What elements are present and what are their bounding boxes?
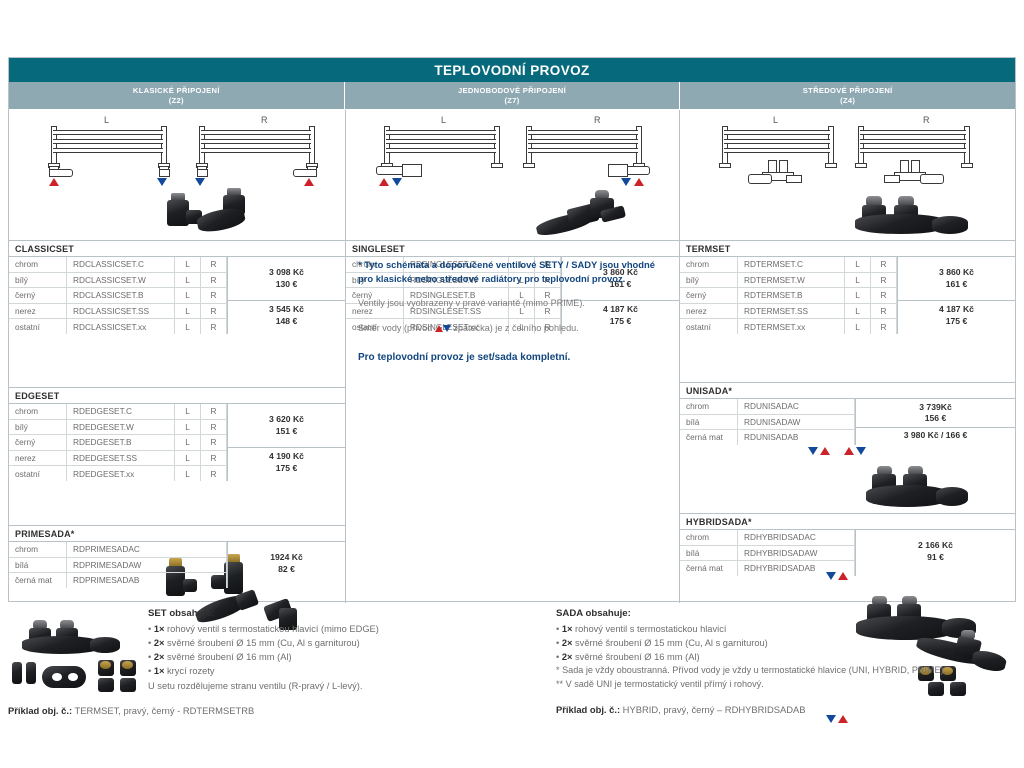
cell-code: RDTERMSET.SS [738, 304, 845, 319]
cell-code: RDCLASSICSET.SS [67, 304, 175, 319]
flow-arrow-supply [820, 447, 830, 455]
flow-arrow-return [856, 447, 866, 455]
note-line-4: Pro teplovodní provoz je set/sada komple… [358, 352, 658, 363]
price-czk: 4 190 Kč [269, 451, 304, 463]
table-row: bílá RDPRIMESADAW [9, 558, 227, 574]
item-text: svěrné šroubení Ø 16 mm (Al) [164, 652, 291, 662]
item-qty: 2× [154, 638, 165, 648]
cell-color: chrom [9, 404, 67, 419]
cell-code: RDCLASSICSET.B [67, 288, 175, 303]
footer-set-block: SET obsahuje: • 1× rohový ventil s termo… [148, 608, 548, 716]
footer-set-example: Příklad obj. č.: TERMSET, pravý, černý -… [8, 705, 548, 716]
catalog-page: TEPLOVODNÍ PROVOZ KLASICKÉ PŘIPOJENÍ (Z2… [0, 0, 1024, 768]
table-row: chrom RDHYBRIDSADAC [680, 530, 855, 546]
cell-color: bílý [680, 273, 738, 288]
cell-code: RDTERMSET.B [738, 288, 845, 303]
example-label: Příklad obj. č.: [556, 704, 620, 715]
item-qty: 2× [562, 638, 573, 648]
price-block: 1924 Kč 82 € [228, 542, 345, 586]
cell-code: RDHYBRIDSADAB [738, 561, 855, 576]
cell-code: RDCLASSICSET.W [67, 273, 175, 288]
table-row: černý RDTERMSET.B L R [680, 288, 897, 304]
price-eur: 175 € [946, 316, 968, 328]
table-row: černá mat RDHYBRIDSADAB [680, 561, 855, 576]
footer-sada-note-2: ** V sadě UNI je termostatický ventil př… [556, 678, 1024, 692]
price-eur: 161 € [946, 279, 968, 291]
price-block: 3 098 Kč 130 € [228, 257, 345, 301]
table-row: nerez RDCLASSICSET.SS L R [9, 304, 227, 320]
note-line-3: Směr vody (přívod zpátečka) je z čelního… [358, 322, 658, 335]
table-row: bílý RDCLASSICSET.W L R [9, 273, 227, 289]
price-column: 3 860 Kč 161 € 4 187 Kč 175 € [897, 257, 1015, 334]
price-block: 3 620 Kč 151 € [228, 404, 345, 448]
table-row: chrom RDTERMSET.C L R [680, 257, 897, 273]
cell-right: R [201, 257, 227, 272]
cell-right: R [871, 257, 897, 272]
price-column: 3 739Kč 156 € 3 980 Kč / 166 € [855, 399, 1015, 445]
schematic-label-left: L [441, 115, 446, 125]
flow-arrow-return [392, 178, 402, 186]
product-table-termset: TERMSET chrom RDTERMSET.C L R bílý [680, 240, 1015, 334]
cell-color: chrom [680, 530, 738, 545]
cell-right: R [201, 319, 227, 334]
cell-code: RDEDGESET.W [67, 420, 175, 435]
product-name: SINGLESET [346, 241, 679, 257]
flow-arrow-supply [304, 178, 314, 186]
item-qty: 1× [154, 624, 165, 634]
price-block: 3 545 Kč 148 € [228, 301, 345, 330]
cell-color: ostatní [9, 319, 67, 334]
note-line-3-prefix: Směr vody (přívod [358, 323, 435, 333]
product-name: EDGESET [9, 388, 345, 404]
cell-right: R [871, 288, 897, 303]
cell-code: RDTERMSET.C [738, 257, 845, 272]
cell-code: RDPRIMESADAC [67, 542, 227, 557]
cell-left: L [175, 257, 201, 272]
cell-right: R [201, 404, 227, 419]
table-row: ostatní RDEDGESET.xx L R [9, 466, 227, 481]
product-table-hybridsada: HYBRIDSADA* chrom RDHYBRIDSADAC bílá RDH… [680, 513, 1015, 576]
cell-color: černý [9, 288, 67, 303]
cell-color: nerez [680, 304, 738, 319]
cell-color: bílý [9, 420, 67, 435]
price-block: 4 190 Kč 175 € [228, 448, 345, 477]
flow-arrow-return [195, 178, 205, 186]
cell-color: černá mat [680, 561, 738, 576]
product-name: UNISADA* [680, 383, 1015, 399]
table-row: černá mat RDUNISADAB [680, 430, 855, 445]
schematic-label-right: R [261, 115, 268, 125]
cell-color: bílá [680, 415, 738, 430]
schematic-label-right: R [594, 115, 601, 125]
footer-sada-item: • 2× svěrné šroubení Ø 16 mm (Al) [556, 650, 1024, 664]
cell-code: RDHYBRIDSADAC [738, 530, 855, 545]
cell-color: ostatní [680, 319, 738, 334]
product-name: PRIMESADA* [9, 526, 345, 542]
cell-color: černá mat [9, 573, 67, 588]
cell-color: nerez [9, 304, 67, 319]
price-block-single: 3 980 Kč / 166 € [856, 428, 1015, 443]
item-text: svěrné šroubení Ø 16 mm (Al) [572, 652, 699, 662]
price-column: 1924 Kč 82 € [227, 542, 345, 588]
table-row: bílá RDUNISADAW [680, 415, 855, 431]
cell-color: chrom [9, 542, 67, 557]
price-combined: 3 980 Kč / 166 € [904, 430, 968, 442]
table-row: černá mat RDPRIMESADAB [9, 573, 227, 588]
item-text: krycí rozety [164, 666, 214, 676]
table-row: černý RDCLASSICSET.B L R [9, 288, 227, 304]
footer-sada-note-1: * Sada je vždy oboustranná. Přívod vody … [556, 664, 1024, 678]
price-eur: 82 € [278, 564, 295, 576]
schematic-classicset: L R [9, 110, 345, 240]
cell-left: L [175, 273, 201, 288]
cell-left: L [175, 319, 201, 334]
cell-left: L [845, 304, 871, 319]
cell-left: L [175, 435, 201, 450]
footer-sada-title: SADA obsahuje: [556, 608, 1024, 619]
product-table-classicset: CLASSICSET chrom RDCLASSICSET.C L R bílý [9, 240, 345, 334]
column-headers: KLASICKÉ PŘIPOJENÍ (Z2) JEDNOBODOVÉ PŘIP… [9, 82, 1015, 110]
footer: SET obsahuje: • 1× rohový ventil s termo… [8, 608, 1016, 728]
cell-left: L [845, 319, 871, 334]
footer-sada-example: Příklad obj. č.: HYBRID, pravý, černý – … [556, 704, 1024, 715]
flow-arrow-return-icon [443, 325, 451, 332]
cell-right: R [201, 304, 227, 319]
product-name: HYBRIDSADA* [680, 514, 1015, 530]
cell-left: L [175, 288, 201, 303]
flow-arrow-return [157, 178, 167, 186]
price-eur: 91 € [927, 552, 944, 564]
cell-code: RDEDGESET.xx [67, 466, 175, 481]
cell-color: bílý [9, 273, 67, 288]
cell-code: RDHYBRIDSADAW [738, 546, 855, 561]
column-header-code: (Z2) [169, 96, 184, 105]
footer-sada-block: SADA obsahuje: • 1× rohový ventil s term… [556, 608, 1024, 715]
flow-arrow-return [808, 447, 818, 455]
table-row: chrom RDCLASSICSET.C L R [9, 257, 227, 273]
footer-set-item: • 1× rohový ventil s termostatickou hlav… [148, 622, 548, 636]
product-table-unisada: UNISADA* chrom RDUNISADAC bílá RDUNISADA… [680, 382, 1015, 445]
cell-color: chrom [9, 257, 67, 272]
price-column: 2 166 Kč 91 € [855, 530, 1015, 576]
cell-right: R [201, 466, 227, 481]
cell-code: RDUNISADAC [738, 399, 855, 414]
page-title: TEPLOVODNÍ PROVOZ [9, 58, 1015, 82]
cell-code: RDEDGESET.B [67, 435, 175, 450]
column-header-klasicke: KLASICKÉ PŘIPOJENÍ (Z2) [9, 82, 345, 109]
cell-right: R [871, 273, 897, 288]
table-row: bílý RDEDGESET.W L R [9, 420, 227, 436]
column-header-jednobodove: JEDNOBODOVÉ PŘIPOJENÍ (Z7) [345, 82, 681, 109]
cell-color: bílá [680, 546, 738, 561]
cell-color: ostatní [9, 466, 67, 481]
item-qty: 2× [562, 652, 573, 662]
item-qty: 1× [562, 624, 573, 634]
column-klasicke-pripojeni: L R [9, 110, 346, 603]
table-row: bílý RDTERMSET.W L R [680, 273, 897, 289]
flow-arrow-supply [49, 178, 59, 186]
cell-left: L [175, 451, 201, 466]
product-name: CLASSICSET [9, 241, 345, 257]
schematic-label-left: L [104, 115, 109, 125]
table-row: chrom RDPRIMESADAC [9, 542, 227, 558]
price-eur: 175 € [276, 463, 298, 475]
price-czk: 1924 Kč [270, 552, 303, 564]
cell-right: R [871, 319, 897, 334]
example-value: HYBRID, pravý, černý – RDHYBRIDSADAB [620, 704, 805, 715]
table-row: černý RDEDGESET.B L R [9, 435, 227, 451]
schematic-label-right: R [923, 115, 930, 125]
cell-right: R [201, 288, 227, 303]
cell-left: L [175, 404, 201, 419]
table-row: chrom RDEDGESET.C L R [9, 404, 227, 420]
product-name: TERMSET [680, 241, 1015, 257]
cell-right: R [201, 435, 227, 450]
schematic-singleset: L R [346, 110, 679, 240]
cell-left: L [845, 288, 871, 303]
item-text: svěrné šroubení Ø 15 mm (Cu, Al s garnit… [572, 638, 767, 648]
table-row: nerez RDTERMSET.SS L R [680, 304, 897, 320]
cell-left: L [175, 466, 201, 481]
column-header-name: JEDNOBODOVÉ PŘIPOJENÍ [458, 86, 566, 95]
column-header-code: (Z7) [504, 96, 519, 105]
table-row: chrom RDUNISADAC [680, 399, 855, 415]
cell-left: L [845, 273, 871, 288]
note-line-1: * Tyto schémata a doporučené ventilové S… [358, 258, 658, 285]
footer-set-tail: U setu rozdělujeme stranu ventilu (R-pra… [148, 679, 548, 693]
price-czk: 3 098 Kč [269, 267, 304, 279]
cell-code: RDTERMSET.xx [738, 319, 845, 334]
footer-set-item: • 1× krycí rozety [148, 664, 548, 678]
product-table-edgeset: EDGESET chrom RDEDGESET.C L R bílý [9, 387, 345, 481]
table-row: ostatní RDCLASSICSET.xx L R [9, 319, 227, 334]
flow-arrow-return [621, 178, 631, 186]
columns-container: L R [9, 110, 1015, 603]
price-czk: 3 739Kč [919, 402, 952, 414]
cell-right: R [201, 273, 227, 288]
cell-right: R [871, 304, 897, 319]
price-czk: 3 545 Kč [269, 304, 304, 316]
cell-color: bílá [9, 558, 67, 573]
footer-set-item: • 2× svěrné šroubení Ø 16 mm (Al) [148, 650, 548, 664]
item-text: rohový ventil s termostatickou hlavicí (… [164, 624, 378, 634]
footer-sada-item: • 2× svěrné šroubení Ø 15 mm (Cu, Al s g… [556, 636, 1024, 650]
cell-code: RDCLASSICSET.C [67, 257, 175, 272]
cell-code: RDTERMSET.W [738, 273, 845, 288]
flow-arrow-supply-icon [435, 325, 443, 332]
price-block: 3 860 Kč 161 € [898, 257, 1015, 301]
product-sheet: TEPLOVODNÍ PROVOZ KLASICKÉ PŘIPOJENÍ (Z2… [8, 57, 1016, 602]
footer-sada-item: • 1× rohový ventil s termostatickou hlav… [556, 622, 1024, 636]
note-line-2: Ventily jsou vyobrazeny v pravé variantě… [358, 297, 658, 310]
cell-code: RDPRIMESADAW [67, 558, 227, 573]
cell-color: chrom [680, 257, 738, 272]
footer-set-item: • 2× svěrné šroubení Ø 15 mm (Cu, Al s g… [148, 636, 548, 650]
price-czk: 3 620 Kč [269, 414, 304, 426]
price-czk: 4 187 Kč [939, 304, 974, 316]
product-table-primesada: PRIMESADA* chrom RDPRIMESADAC bílá RDPRI… [9, 525, 345, 588]
example-value: TERMSET, pravý, černý - RDTERMSETRB [72, 705, 254, 716]
cell-code: RDEDGESET.SS [67, 451, 175, 466]
footer-set-title: SET obsahuje: [148, 608, 548, 619]
example-label: Příklad obj. č.: [8, 705, 72, 716]
cell-left: L [845, 257, 871, 272]
cell-right: R [201, 420, 227, 435]
price-block: 2 166 Kč 91 € [856, 530, 1015, 574]
column-header-name: KLASICKÉ PŘIPOJENÍ [133, 86, 220, 95]
column-header-name: STŘEDOVÉ PŘIPOJENÍ [803, 86, 893, 95]
price-column: 3 098 Kč 130 € 3 545 Kč 148 € [227, 257, 345, 334]
price-eur: 151 € [276, 426, 298, 438]
column-header-stredove: STŘEDOVÉ PŘIPOJENÍ (Z4) [680, 82, 1015, 109]
price-eur: 130 € [276, 279, 298, 291]
table-row: bílá RDHYBRIDSADAW [680, 546, 855, 562]
item-qty: 1× [154, 666, 165, 676]
cell-color: černý [680, 288, 738, 303]
cell-left: L [175, 304, 201, 319]
item-text: svěrné šroubení Ø 15 mm (Cu, Al s garnit… [164, 638, 359, 648]
price-eur: 148 € [276, 316, 298, 328]
column-jednobodove-pripojeni: L R [346, 110, 680, 603]
table-row: ostatní RDTERMSET.xx L R [680, 319, 897, 334]
price-czk: 2 166 Kč [918, 540, 953, 552]
price-czk: 3 860 Kč [939, 267, 974, 279]
flow-arrow-supply [634, 178, 644, 186]
cell-color: černá mat [680, 430, 738, 445]
note-line-3-suffix: zpátečka) je z čelního pohledu. [451, 323, 579, 333]
note-block: * Tyto schémata a doporučené ventilové S… [358, 258, 658, 363]
price-block: 4 187 Kč 175 € [898, 301, 1015, 330]
cell-right: R [201, 451, 227, 466]
cell-code: RDUNISADAB [738, 430, 855, 445]
cell-color: nerez [9, 451, 67, 466]
schematic-termset: L R [680, 110, 1015, 240]
cell-code: RDCLASSICSET.xx [67, 319, 175, 334]
flow-arrow-supply [844, 447, 854, 455]
cell-color: chrom [680, 399, 738, 414]
schematic-label-left: L [773, 115, 778, 125]
price-block: 3 739Kč 156 € [856, 399, 1015, 428]
item-qty: 2× [154, 652, 165, 662]
cell-left: L [175, 420, 201, 435]
column-header-code: (Z4) [840, 96, 855, 105]
table-row: nerez RDEDGESET.SS L R [9, 451, 227, 467]
cell-code: RDPRIMESADAB [67, 573, 227, 588]
cell-color: černý [9, 435, 67, 450]
cell-code: RDUNISADAW [738, 415, 855, 430]
price-column: 3 620 Kč 151 € 4 190 Kč 175 € [227, 404, 345, 481]
price-eur: 156 € [925, 413, 947, 425]
item-text: rohový ventil s termostatickou hlavicí [572, 624, 726, 634]
column-stredove-pripojeni: L R [680, 110, 1015, 603]
cell-code: RDEDGESET.C [67, 404, 175, 419]
flow-arrow-supply [379, 178, 389, 186]
